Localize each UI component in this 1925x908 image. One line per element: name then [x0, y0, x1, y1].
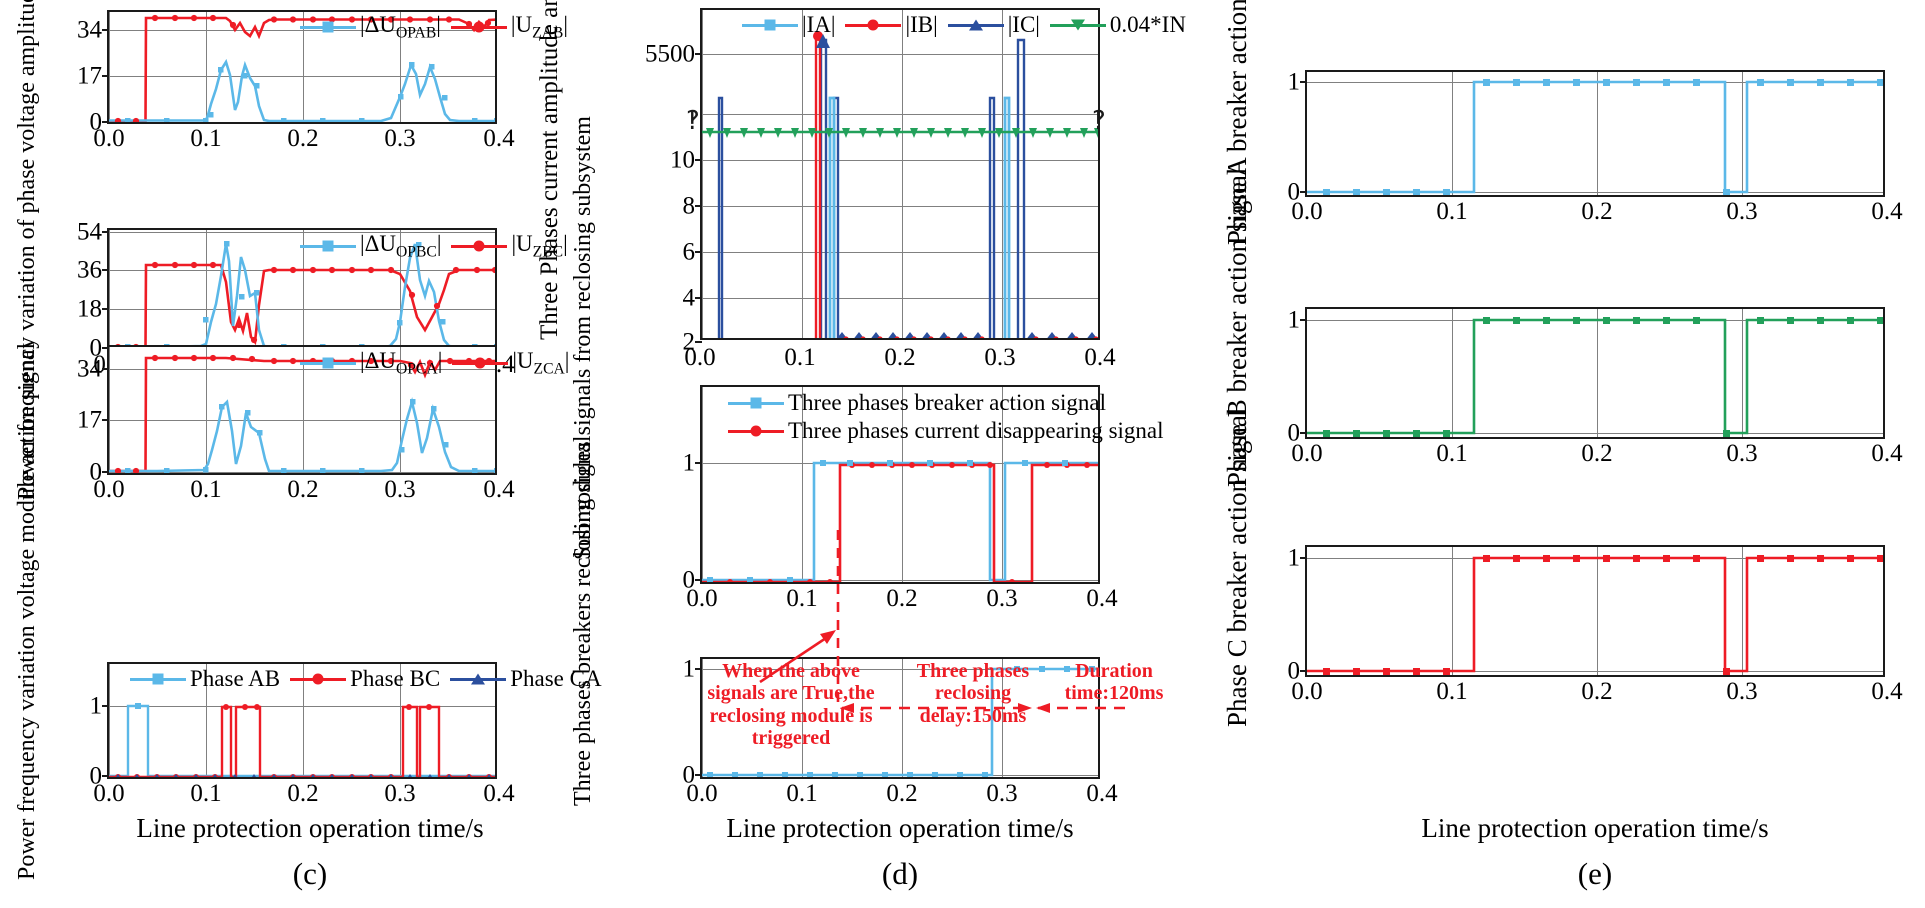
annotation-duration-note: Duration time:120ms — [1055, 660, 1173, 705]
legend-swatch — [130, 678, 186, 681]
xtick-label: 0.1 — [784, 341, 815, 370]
legend-item-uzca[interactable]: |UZCA| — [452, 348, 569, 379]
xtick-label: 0.1 — [1436, 675, 1467, 704]
legend-swatch — [300, 245, 356, 248]
xtick-label: 0.2 — [1581, 195, 1612, 224]
xtick-label: 0.0 — [93, 777, 124, 806]
xtick-label: 0.0 — [686, 777, 717, 806]
xtick-label: 0.0 — [686, 582, 717, 611]
xtick-label: 0.4 — [483, 473, 514, 502]
xtick-label: 0.3 — [984, 341, 1015, 370]
chart-c3-legend: |ΔUOPCA| |UZCA| — [300, 348, 579, 379]
legend-label: |IA| — [802, 12, 835, 38]
legend-item-ic[interactable]: |IC| — [948, 12, 1040, 38]
xtick-label: 0.3 — [384, 122, 415, 151]
xtick-label: 0.1 — [786, 582, 817, 611]
legend-item-ib[interactable]: |IB| — [845, 12, 937, 38]
xtick-label: 0.1 — [190, 473, 221, 502]
legend-item-phase-ca[interactable]: Phase CA — [450, 666, 601, 692]
xtick-label: 0.0 — [1291, 437, 1322, 466]
chart-c1-legend: |ΔUOPAB| |UZAB| — [300, 12, 578, 43]
legend-label: |UZBC| — [511, 231, 567, 262]
legend-label: |ΔUOPBC| — [360, 231, 441, 262]
axis-break-icon: ‽ — [686, 106, 700, 136]
xtick-label: 0.3 — [384, 777, 415, 806]
xtick-label: 0.3 — [1726, 675, 1757, 704]
xtick-label: 0.4 — [483, 777, 514, 806]
legend-label: |UZCA| — [512, 348, 569, 379]
legend-item-uzab[interactable]: |UZAB| — [451, 12, 568, 43]
panel-e3-ylabel: Phase C breaker action signal — [1222, 408, 1253, 727]
xtick-label: 0.2 — [1581, 437, 1612, 466]
xtick-label: 0.3 — [1726, 195, 1757, 224]
xtick-label: 0.4 — [1086, 582, 1117, 611]
ytick-label: 5500 — [645, 42, 702, 67]
xtick-label: 0.0 — [1291, 195, 1322, 224]
legend-item-ia[interactable]: |IA| — [742, 12, 835, 38]
legend-label: Phase CA — [510, 666, 601, 692]
panel-d-ylabel-reclosing: Three phases breakers reclosing signal — [570, 435, 597, 806]
xtick-label: 0.3 — [986, 582, 1017, 611]
legend-label: |IB| — [905, 12, 937, 38]
legend-label: |ΔUOPCA| — [360, 348, 442, 379]
xtick-label: 0.2 — [287, 473, 318, 502]
axis-break-icon: ‽ — [1092, 106, 1106, 136]
xtick-label: 0.0 — [93, 473, 124, 502]
xtick-label: 0.2 — [287, 122, 318, 151]
ytick-label: 34 — [77, 18, 109, 43]
legend-swatch — [450, 678, 506, 681]
legend-item-phase-bc[interactable]: Phase BC — [290, 666, 440, 692]
ytick-label: 1 — [1288, 546, 1308, 571]
xtick-label: 0.3 — [986, 777, 1017, 806]
legend-item-duopbc[interactable]: |ΔUOPBC| — [300, 231, 441, 262]
legend-label: Three phases current disappearing signal — [788, 418, 1164, 444]
legend-swatch — [300, 26, 356, 29]
xtick-label: 0.4 — [1871, 437, 1902, 466]
xtick-label: 0.4 — [1086, 777, 1117, 806]
legend-swatch — [452, 362, 508, 365]
panel-d-caption: (d) — [840, 856, 960, 892]
legend-swatch — [728, 402, 784, 405]
xtick-label: 0.2 — [1581, 675, 1612, 704]
ytick-label: 8 — [683, 194, 703, 219]
chart-d1-legend: |IA| |IB| |IC| 0.04*IN — [742, 12, 1196, 38]
legend-swatch — [290, 678, 346, 681]
panel-c-xlabel: Line protection operation time/s — [130, 813, 490, 844]
panel-e-xlabel: Line protection operation time/s — [1400, 813, 1790, 844]
chart-e1: 0 1 0.0 0.1 0.2 0.3 0.4 — [1305, 70, 1885, 197]
ytick-label: 1 — [683, 451, 703, 476]
ytick-label: 4 — [683, 286, 703, 311]
legend-swatch — [451, 245, 507, 248]
chart-e3-plot — [1307, 547, 1883, 675]
ytick-label: 17 — [77, 408, 109, 433]
annotation-trigger-note: When the above signals are True,the recl… — [705, 660, 877, 750]
xtick-label: 0.2 — [886, 777, 917, 806]
xtick-label: 0.1 — [786, 777, 817, 806]
ytick-label: 1 — [683, 657, 703, 682]
panel-d-ylabel-current: Three Phases current amplitude and curre… — [536, 0, 564, 340]
chart-e3: 0 1 0.0 0.1 0.2 0.3 0.4 — [1305, 545, 1885, 677]
chart-d2-legend: Three phases breaker action signal Three… — [728, 390, 1174, 444]
panel-c-caption: (c) — [250, 856, 370, 892]
ytick-label: 10 — [670, 148, 702, 173]
chart-e2-plot — [1307, 309, 1883, 437]
chart-e1-series — [1307, 72, 1883, 195]
legend-swatch — [845, 24, 901, 27]
xtick-label: 0.1 — [190, 122, 221, 151]
panel-c-ylabel-action: Power frequency variation voltage module… — [14, 343, 41, 880]
ytick-label: 6 — [683, 240, 703, 265]
chart-e1-plot — [1307, 72, 1883, 195]
legend-swatch — [728, 430, 784, 433]
xtick-label: 0.4 — [1871, 675, 1902, 704]
xtick-label: 0.2 — [886, 582, 917, 611]
chart-e2-series — [1307, 309, 1883, 437]
ytick-label: 36 — [77, 258, 109, 283]
xtick-label: 0.0 — [93, 122, 124, 151]
chart-d1-series — [702, 10, 1098, 338]
legend-label: |IC| — [1008, 12, 1040, 38]
legend-swatch — [300, 362, 356, 365]
legend-item-duopca[interactable]: |ΔUOPCA| — [300, 348, 442, 379]
legend-item-current-disappearing[interactable]: Three phases current disappearing signal — [728, 418, 1164, 444]
legend-item-in[interactable]: 0.04*IN — [1050, 12, 1186, 38]
legend-label: 0.04*IN — [1110, 12, 1186, 38]
xtick-label: 0.0 — [1291, 675, 1322, 704]
ytick-label: 34 — [77, 357, 109, 382]
legend-label: |UZAB| — [511, 12, 568, 43]
xtick-label: 0.1 — [190, 777, 221, 806]
legend-item-duopab[interactable]: |ΔUOPAB| — [300, 12, 441, 43]
ytick-label: 18 — [77, 297, 109, 322]
chart-c4-legend: Phase AB Phase BC Phase CA — [130, 666, 612, 692]
legend-item-uzbc[interactable]: |UZBC| — [451, 231, 567, 262]
chart-d1-plot — [702, 10, 1098, 338]
legend-item-phase-ab[interactable]: Phase AB — [130, 666, 280, 692]
legend-swatch — [1050, 24, 1106, 27]
ytick-label: 1 — [1288, 308, 1308, 333]
legend-swatch — [742, 24, 798, 27]
legend-swatch — [451, 26, 507, 29]
legend-item-breaker-action[interactable]: Three phases breaker action signal — [728, 390, 1106, 416]
ytick-label: 1 — [1288, 70, 1308, 95]
chart-d1: 5500 10 8 6 4 2 ‽ ‽ — [700, 8, 1100, 340]
xtick-label: 0.3 — [384, 473, 415, 502]
ytick-label: 17 — [77, 64, 109, 89]
legend-label: Three phases breaker action signal — [788, 390, 1106, 416]
xtick-label: 0.1 — [1436, 437, 1467, 466]
panel-e-caption: (e) — [1535, 856, 1655, 892]
ytick-label: 54 — [77, 220, 109, 245]
xtick-label: 0.3 — [1726, 437, 1757, 466]
chart-e3-series — [1307, 547, 1883, 675]
legend-label: |ΔUOPAB| — [360, 12, 441, 43]
legend-label: Phase BC — [350, 666, 440, 692]
panel-d-xlabel: Line protection operation time/s — [720, 813, 1080, 844]
legend-swatch — [948, 24, 1004, 27]
ytick-label: 1 — [90, 694, 110, 719]
annotation-delay-note: Three phases reclosing delay:150ms — [898, 660, 1048, 727]
xtick-label: 0.2 — [884, 341, 915, 370]
chart-e2: 0 1 0.0 0.1 0.2 0.3 0.4 — [1305, 307, 1885, 439]
figure-root: Power frequency variation of phase volta… — [0, 0, 1925, 908]
xtick-label: 0.4 — [1084, 341, 1115, 370]
xtick-label: 0.2 — [287, 777, 318, 806]
xtick-label: 0.0 — [684, 341, 715, 370]
xtick-label: 0.1 — [1436, 195, 1467, 224]
chart-c2-legend: |ΔUOPBC| |UZBC| — [300, 231, 578, 262]
legend-label: Phase AB — [190, 666, 280, 692]
xtick-label: 0.4 — [1871, 195, 1902, 224]
xtick-label: 0.4 — [483, 122, 514, 151]
